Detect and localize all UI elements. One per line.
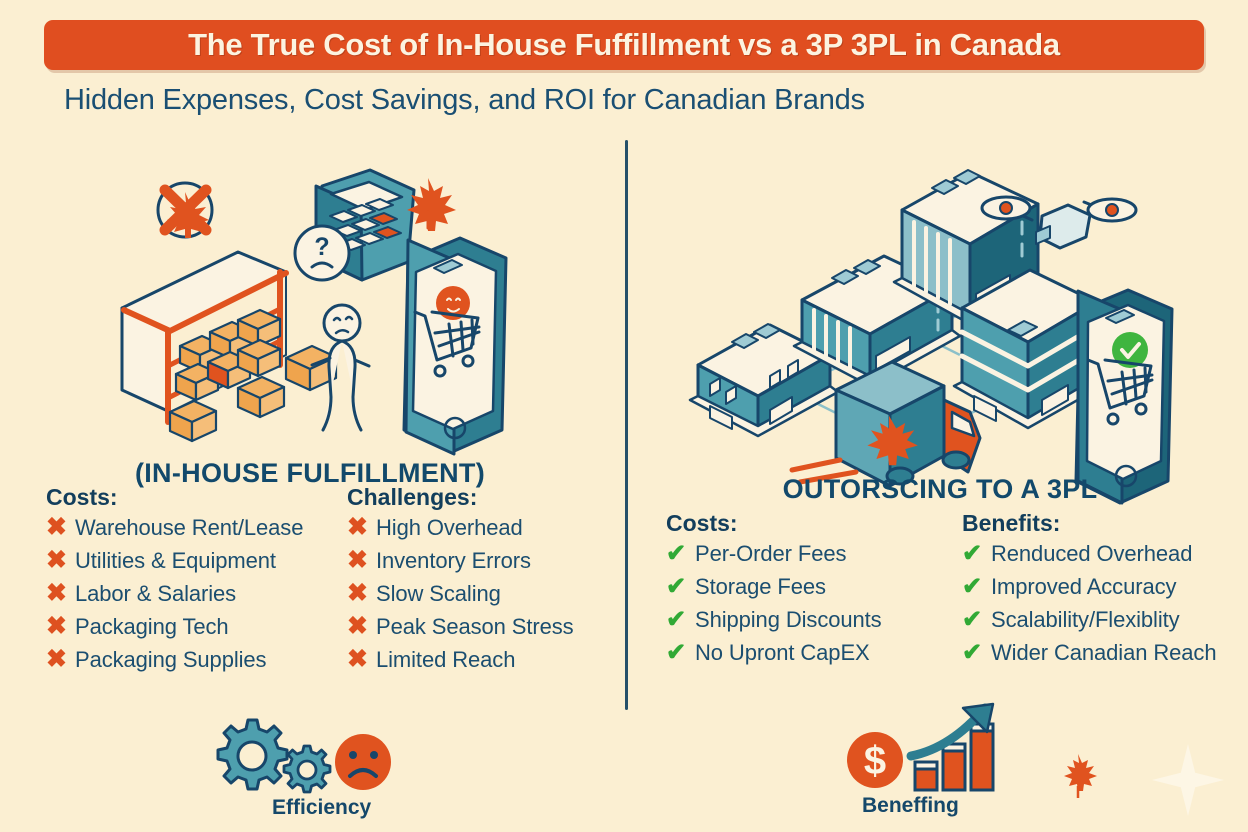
list-item: ✖ Warehouse Rent/Lease [46, 515, 303, 548]
dollar-coin-icon: $ [847, 732, 903, 788]
check-icon: ✔ [962, 575, 980, 599]
beneffing-icon-group: $ [845, 700, 1015, 796]
list-item: ✔ Shipping Discounts [666, 607, 882, 640]
three-pl-illustration [670, 160, 1190, 465]
efficiency-icon-group [208, 716, 398, 796]
svg-text:$: $ [864, 739, 886, 783]
check-icon: ✔ [666, 542, 684, 566]
list-item-label: Packaging Supplies [75, 647, 266, 673]
check-icon: ✔ [962, 542, 980, 566]
left-challenges-list: ✖ High Overhead ✖ Inventory Errors ✖ Slo… [347, 515, 574, 680]
right-benefits-list: ✔ Renduced Overhead ✔ Improved Accuracy … [962, 541, 1216, 673]
check-icon: ✔ [666, 575, 684, 599]
in-house-illustration: ? [110, 160, 530, 460]
x-icon: ✖ [347, 515, 365, 540]
check-icon: ✔ [962, 641, 980, 665]
list-item: ✔ Wider Canadian Reach [962, 640, 1216, 673]
left-costs-label: Costs: [46, 484, 118, 511]
check-icon: ✔ [962, 608, 980, 632]
list-item-label: Per-Order Fees [695, 541, 846, 567]
x-icon: ✖ [46, 515, 64, 540]
x-icon: ✖ [46, 581, 64, 606]
no-maple-leaf-badge-icon [158, 183, 212, 238]
list-item-label: Packaging Tech [75, 614, 229, 640]
gear-large-icon [218, 720, 287, 789]
list-item-label: Inventory Errors [376, 548, 531, 574]
x-icon: ✖ [347, 647, 365, 672]
x-icon: ✖ [46, 548, 64, 573]
list-item: ✔ Storage Fees [666, 574, 882, 607]
confused-face-icon: ? [295, 226, 349, 280]
list-item: ✖ Labor & Salaries [46, 581, 303, 614]
title-banner: The True Cost of In-House Fuffillment vs… [44, 20, 1204, 70]
right-costs-label: Costs: [666, 510, 738, 537]
x-icon: ✖ [347, 548, 365, 573]
smartphone-cart-check-icon [1076, 290, 1172, 503]
list-item-label: Warehouse Rent/Lease [75, 515, 303, 541]
infographic-canvas: The True Cost of In-House Fuffillment vs… [0, 0, 1248, 832]
check-icon: ✔ [666, 608, 684, 632]
right-panel-heading: OUTORSCING TO A 3PL [740, 474, 1140, 505]
list-item: ✖ Limited Reach [347, 647, 574, 680]
list-item-label: Labor & Salaries [75, 581, 236, 607]
list-item: ✔ Improved Accuracy [962, 574, 1216, 607]
list-item: ✔ Per-Order Fees [666, 541, 882, 574]
list-item-label: Improved Accuracy [991, 574, 1176, 600]
svg-text:?: ? [314, 233, 329, 261]
maple-leaf-icon [407, 178, 456, 231]
list-item-label: Scalability/Flexiblity [991, 607, 1180, 633]
list-item: ✖ Inventory Errors [347, 548, 574, 581]
list-item-label: No Upront CapEX [695, 640, 870, 666]
list-item-label: Peak Season Stress [376, 614, 574, 640]
vertical-divider [625, 140, 628, 710]
x-icon: ✖ [46, 647, 64, 672]
left-costs-list: ✖ Warehouse Rent/Lease ✖ Utilities & Equ… [46, 515, 303, 680]
beneffing-label: Beneffing [862, 794, 959, 818]
worker-carrying-box-icon [286, 305, 369, 430]
list-item-label: Wider Canadian Reach [991, 640, 1216, 666]
list-item: ✔ Renduced Overhead [962, 541, 1216, 574]
maple-leaf-icon [1056, 752, 1100, 800]
list-item-label: Limited Reach [376, 647, 515, 673]
smartphone-shopping-cart-icon [404, 238, 506, 454]
sad-face-icon [335, 734, 391, 790]
x-icon: ✖ [347, 614, 365, 639]
list-item: ✖ Packaging Tech [46, 614, 303, 647]
list-item-label: High Overhead [376, 515, 523, 541]
efficiency-label: Efficiency [272, 796, 371, 820]
left-challenges-label: Challenges: [347, 484, 477, 511]
list-item-label: Shipping Discounts [695, 607, 882, 633]
right-costs-list: ✔ Per-Order Fees ✔ Storage Fees ✔ Shippi… [666, 541, 882, 673]
list-item: ✖ Packaging Supplies [46, 647, 303, 680]
growth-bar-chart-icon [911, 704, 993, 790]
list-item-label: Utilities & Equipment [75, 548, 276, 574]
list-item: ✔ Scalability/Flexiblity [962, 607, 1216, 640]
gear-small-icon [284, 746, 330, 792]
x-icon: ✖ [347, 581, 365, 606]
list-item-label: Slow Scaling [376, 581, 501, 607]
check-icon: ✔ [666, 641, 684, 665]
x-icon: ✖ [46, 614, 64, 639]
page-subtitle: Hidden Expenses, Cost Savings, and ROI f… [64, 84, 865, 117]
right-benefits-label: Benefits: [962, 510, 1060, 537]
list-item-label: Storage Fees [695, 574, 826, 600]
list-item-label: Renduced Overhead [991, 541, 1192, 567]
list-item: ✖ Peak Season Stress [347, 614, 574, 647]
list-item: ✖ High Overhead [347, 515, 574, 548]
list-item: ✔ No Upront CapEX [666, 640, 882, 673]
sparkle-icon [1152, 744, 1224, 816]
page-title: The True Cost of In-House Fuffillment vs… [188, 27, 1060, 63]
list-item: ✖ Utilities & Equipment [46, 548, 303, 581]
list-item: ✖ Slow Scaling [347, 581, 574, 614]
